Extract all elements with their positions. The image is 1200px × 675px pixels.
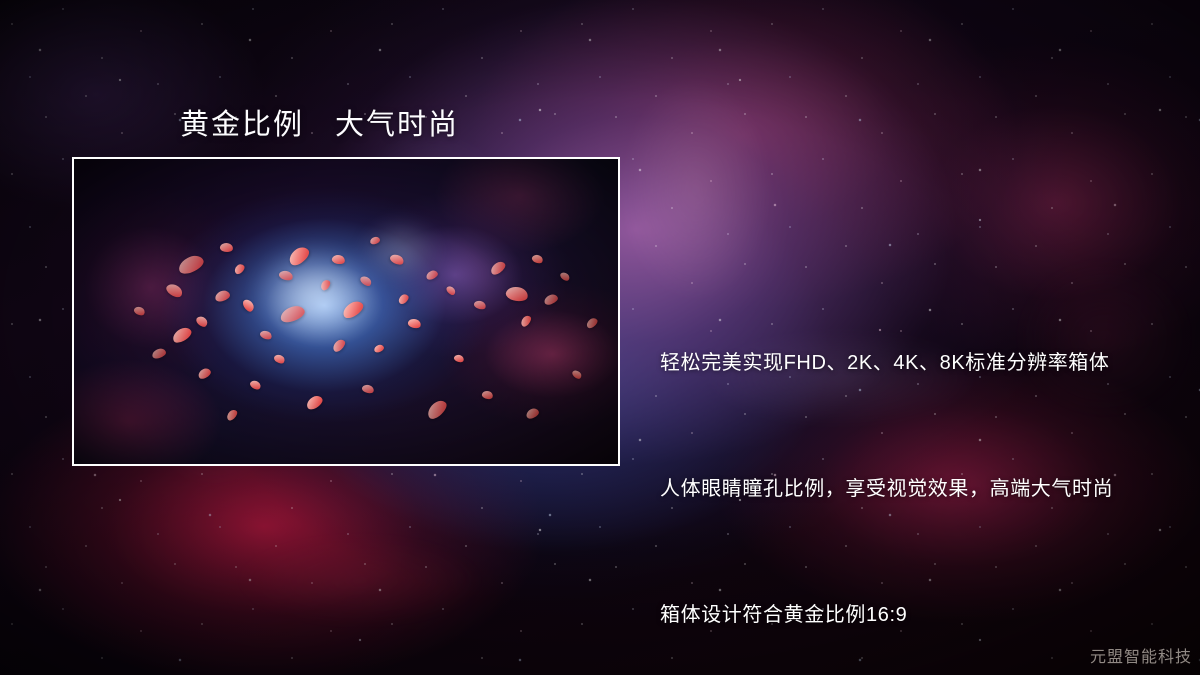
body-line-3: 箱体设计符合黄金比例16:9: [660, 594, 1113, 636]
body-line-1: 轻松完美实现FHD、2K、4K、8K标准分辨率箱体: [660, 342, 1113, 384]
framed-image-panel: [72, 157, 620, 466]
panel-vignette: [74, 159, 618, 464]
slide-canvas: 黄金比例 大气时尚 轻松完美实现FHD、2K、4K、8K标准分辨率箱体 人体眼睛…: [0, 0, 1200, 675]
body-line-2: 人体眼睛瞳孔比例，享受视觉效果，高端大气时尚: [660, 468, 1113, 510]
watermark: 元盟智能科技: [1090, 643, 1192, 667]
panel-image: [74, 159, 618, 464]
body-copy: 轻松完美实现FHD、2K、4K、8K标准分辨率箱体 人体眼睛瞳孔比例，享受视觉效…: [660, 258, 1113, 675]
page-title: 黄金比例 大气时尚: [180, 101, 459, 143]
